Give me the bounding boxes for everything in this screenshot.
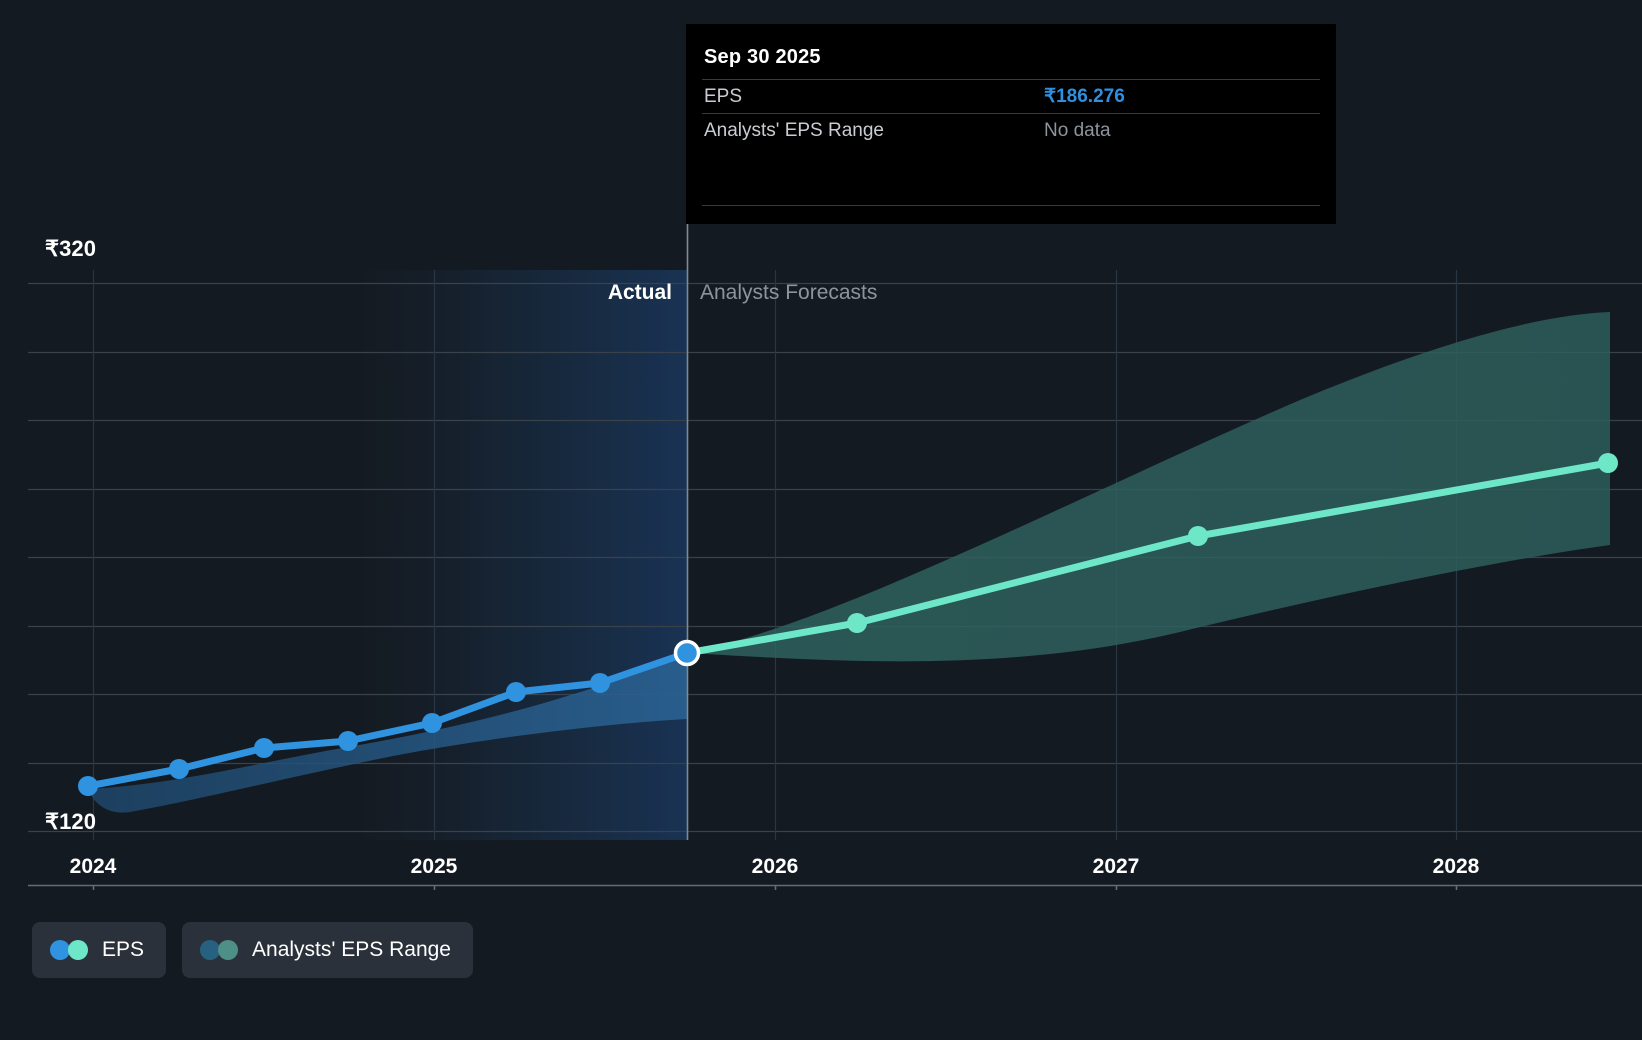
two-dots-icon [50, 940, 88, 960]
chart-tooltip: Sep 30 2025 EPS ₹186.276 Analysts' EPS R… [686, 24, 1336, 224]
tooltip-label-analysts-range: Analysts' EPS Range [704, 120, 1044, 142]
data-point[interactable] [506, 682, 526, 702]
data-point[interactable] [169, 759, 189, 779]
x-axis-label-2026: 2026 [752, 855, 799, 879]
y-axis-label-max: ₹320 [45, 236, 96, 262]
tooltip-value-analysts-range: No data [1044, 120, 1111, 142]
two-dots-icon [200, 940, 238, 960]
legend-item-analysts-eps-range[interactable]: Analysts' EPS Range [182, 922, 473, 978]
data-point[interactable] [78, 776, 98, 796]
tooltip-title: Sep 30 2025 [704, 46, 1320, 69]
data-point[interactable] [254, 738, 274, 758]
legend-label-eps: EPS [102, 938, 144, 962]
tooltip-row-analysts-range: Analysts' EPS Range No data [702, 113, 1320, 147]
y-axis-label-min: ₹120 [45, 809, 96, 835]
actual-phase-label: Actual [608, 281, 672, 305]
forecast-phase-label: Analysts Forecasts [700, 281, 877, 305]
eps-chart-page: ₹320 ₹120 2024 2025 2026 2027 2028 Actua… [0, 0, 1642, 1040]
tooltip-value-eps: ₹186.276 [1044, 85, 1125, 108]
data-point[interactable] [590, 673, 610, 693]
x-axis [28, 885, 1642, 890]
tooltip-row-eps: EPS ₹186.276 [702, 79, 1320, 113]
data-point[interactable] [1188, 526, 1208, 546]
chart-legend: EPS Analysts' EPS Range [32, 922, 473, 978]
data-point[interactable] [338, 731, 358, 751]
x-axis-label-2028: 2028 [1433, 855, 1480, 879]
data-point[interactable] [847, 613, 867, 633]
legend-label-analysts-eps-range: Analysts' EPS Range [252, 938, 451, 962]
highlighted-data-point[interactable] [676, 642, 699, 665]
tooltip-spacer [702, 147, 1320, 206]
x-axis-label-2024: 2024 [70, 855, 117, 879]
x-axis-label-2027: 2027 [1093, 855, 1140, 879]
actual-region-background [364, 270, 687, 840]
data-point[interactable] [422, 713, 442, 733]
tooltip-label-eps: EPS [704, 86, 1044, 108]
x-axis-label-2025: 2025 [411, 855, 458, 879]
data-point[interactable] [1598, 453, 1618, 473]
legend-item-eps[interactable]: EPS [32, 922, 166, 978]
